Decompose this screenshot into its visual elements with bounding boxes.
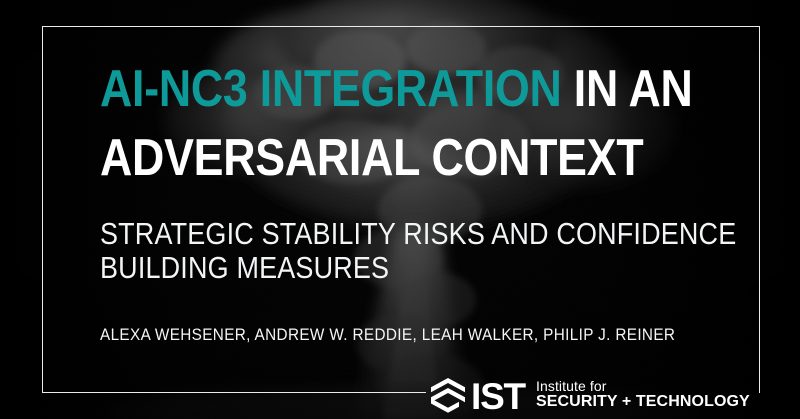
authors-line: ALEXA WEHSENER, ANDREW W. REDDIE, LEAH W… [100,325,675,345]
cover-content: AI-NC3 INTEGRATION IN AN ADVERSARIAL CON… [0,0,800,419]
ist-wordmark-line-2: SECURITY + TECHNOLOGY [536,394,750,411]
ist-chevron-mark-icon [428,376,468,414]
subtitle-line-1: STRATEGIC STABILITY RISKS AND CONFIDENCE [100,217,736,252]
report-cover: AI-NC3 INTEGRATION IN AN ADVERSARIAL CON… [0,0,800,419]
title-line-1: AI-NC3 INTEGRATION IN AN [100,63,693,115]
title-accent-text: AI-NC3 INTEGRATION [100,60,562,118]
ist-logo: IST Institute for SECURITY + TECHNOLOGY [428,375,750,415]
subtitle-line-2: BUILDING MEASURES [100,251,389,286]
title-line-2: ADVERSARIAL CONTEXT [100,132,643,184]
title-line-1-rest: IN AN [562,60,693,118]
ist-wordmark: Institute for SECURITY + TECHNOLOGY [536,379,750,410]
ist-wordmark-line-1: Institute for [536,379,750,394]
ist-acronym: IST [471,378,525,415]
